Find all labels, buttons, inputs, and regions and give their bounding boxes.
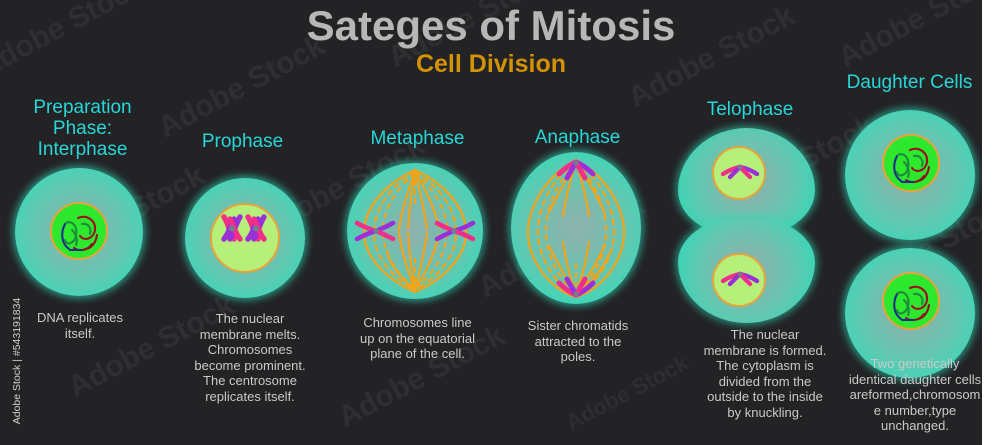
page-title: Sateges of Mitosis: [0, 2, 982, 50]
nucleus-telophase-upper: [712, 146, 766, 200]
poster-canvas: Adobe Stock Adobe Stock Adobe Stock Adob…: [0, 0, 982, 445]
cell-telophase: [676, 128, 817, 323]
stage-label-interphase: Preparation Phase: Interphase: [0, 97, 165, 160]
chromatid-cluster-icon: [714, 255, 768, 309]
stage-label-telophase: Telophase: [625, 99, 875, 120]
cell-metaphase: [347, 163, 483, 299]
spindle-apparatus-anaphase-icon: [511, 152, 641, 304]
chromatin-threads-icon: [884, 136, 942, 194]
stage-label-prophase: Prophase: [170, 131, 315, 152]
chromatin-threads-icon: [884, 274, 942, 332]
cell-prophase: [185, 178, 305, 298]
cell-anaphase: [511, 152, 641, 304]
nucleus-prophase: [210, 203, 280, 273]
cell-daughter-upper: [845, 110, 975, 240]
nucleus-telophase-lower: [712, 253, 766, 307]
stage-caption-interphase: DNA replicates itself.: [10, 310, 150, 341]
stage-caption-metaphase: Chromosomes line up on the equatorial pl…: [340, 315, 495, 362]
chromosome-pair-icon: [212, 205, 282, 275]
chromatid-cluster-icon: [714, 148, 768, 202]
stage-caption-prophase: The nuclear membrane melts. Chromosomes …: [175, 311, 325, 404]
stage-caption-telophase: The nuclear membrane is formed. The cyto…: [690, 327, 840, 420]
stage-caption-anaphase: Sister chromatids attracted to the poles…: [508, 318, 648, 365]
cell-interphase: [15, 168, 143, 296]
stock-credit-watermark: Adobe Stock | #543191834: [11, 286, 23, 436]
nucleus-daughter-upper: [882, 134, 940, 192]
right-white-margin: [982, 0, 1000, 445]
stage-label-daughter-cells: Daughter Cells: [822, 72, 982, 93]
stage-caption-daughter-cells: Two genetically identical daughter cells…: [845, 356, 982, 434]
stage-label-anaphase: Anaphase: [505, 127, 650, 148]
spindle-apparatus-metaphase-icon: [347, 163, 483, 299]
stage-label-metaphase: Metaphase: [345, 128, 490, 149]
nucleus-interphase: [50, 202, 108, 260]
chromatin-threads-icon: [52, 204, 110, 262]
nucleus-daughter-lower: [882, 272, 940, 330]
